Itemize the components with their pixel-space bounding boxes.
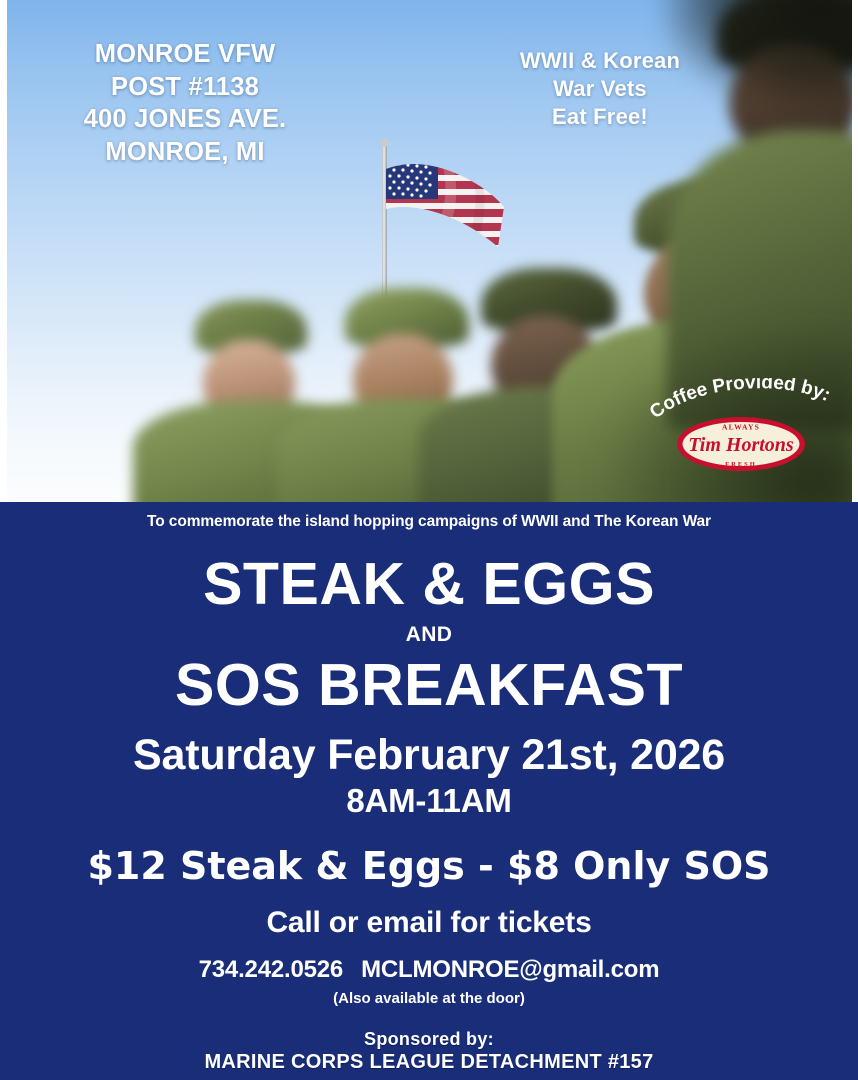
door-availability-note: (Also available at the door): [0, 990, 858, 1007]
event-title-secondary: SOS BREAKFAST: [0, 656, 858, 715]
vets-line-1: WWII & Korean: [495, 47, 705, 75]
svg-text:ALWAYS: ALWAYS: [722, 423, 760, 432]
svg-text:FRESH: FRESH: [725, 461, 757, 468]
commemoration-line: To commemorate the island hopping campai…: [0, 513, 858, 531]
event-pricing: $12 Steak & Eggs - $8 Only SOS: [0, 844, 858, 888]
vets-line-2: War Vets: [495, 75, 705, 103]
tim-hortons-logo-icon: ALWAYS FRESH Tim Hortons: [675, 414, 807, 474]
contact-line: 734.242.0526MCLMONROE@gmail.com: [0, 956, 858, 984]
sponsor-organization-name: MARINE CORPS LEAGUE DETACHMENT #157: [0, 1051, 858, 1074]
venue-line-1: MONROE VFW: [55, 38, 315, 71]
event-title-primary: STEAK & EGGS: [0, 555, 858, 614]
venue-line-2: POST #1138: [55, 71, 315, 104]
event-time: 8AM-11AM: [0, 782, 858, 820]
vets-line-3: Eat Free!: [495, 103, 705, 131]
coffee-sponsor-mark: Coffee Provided by: ALWAYS FRESH Tim Hor…: [647, 378, 837, 488]
tickets-call-to-action: Call or email for tickets: [0, 906, 858, 940]
info-panel: To commemorate the island hopping campai…: [0, 502, 858, 1080]
venue-address-block: MONROE VFW POST #1138 400 JONES AVE. MON…: [55, 38, 315, 169]
venue-line-4: MONROE, MI: [55, 136, 315, 169]
hero-photo: MONROE VFW POST #1138 400 JONES AVE. MON…: [7, 0, 852, 502]
event-date: Saturday February 21st, 2026: [0, 733, 858, 778]
venue-line-3: 400 JONES AVE.: [55, 103, 315, 136]
flyer: MONROE VFW POST #1138 400 JONES AVE. MON…: [0, 0, 858, 1080]
contact-phone[interactable]: 734.242.0526: [199, 956, 343, 983]
event-title-conjunction: AND: [0, 623, 858, 647]
american-flag-icon: [386, 163, 504, 255]
vets-eat-free-note: WWII & Korean War Vets Eat Free!: [495, 47, 705, 131]
sponsored-by-label: Sponsored by:: [0, 1029, 858, 1050]
svg-text:Tim Hortons: Tim Hortons: [688, 434, 794, 456]
contact-email[interactable]: MCLMONROE@gmail.com: [361, 956, 659, 983]
